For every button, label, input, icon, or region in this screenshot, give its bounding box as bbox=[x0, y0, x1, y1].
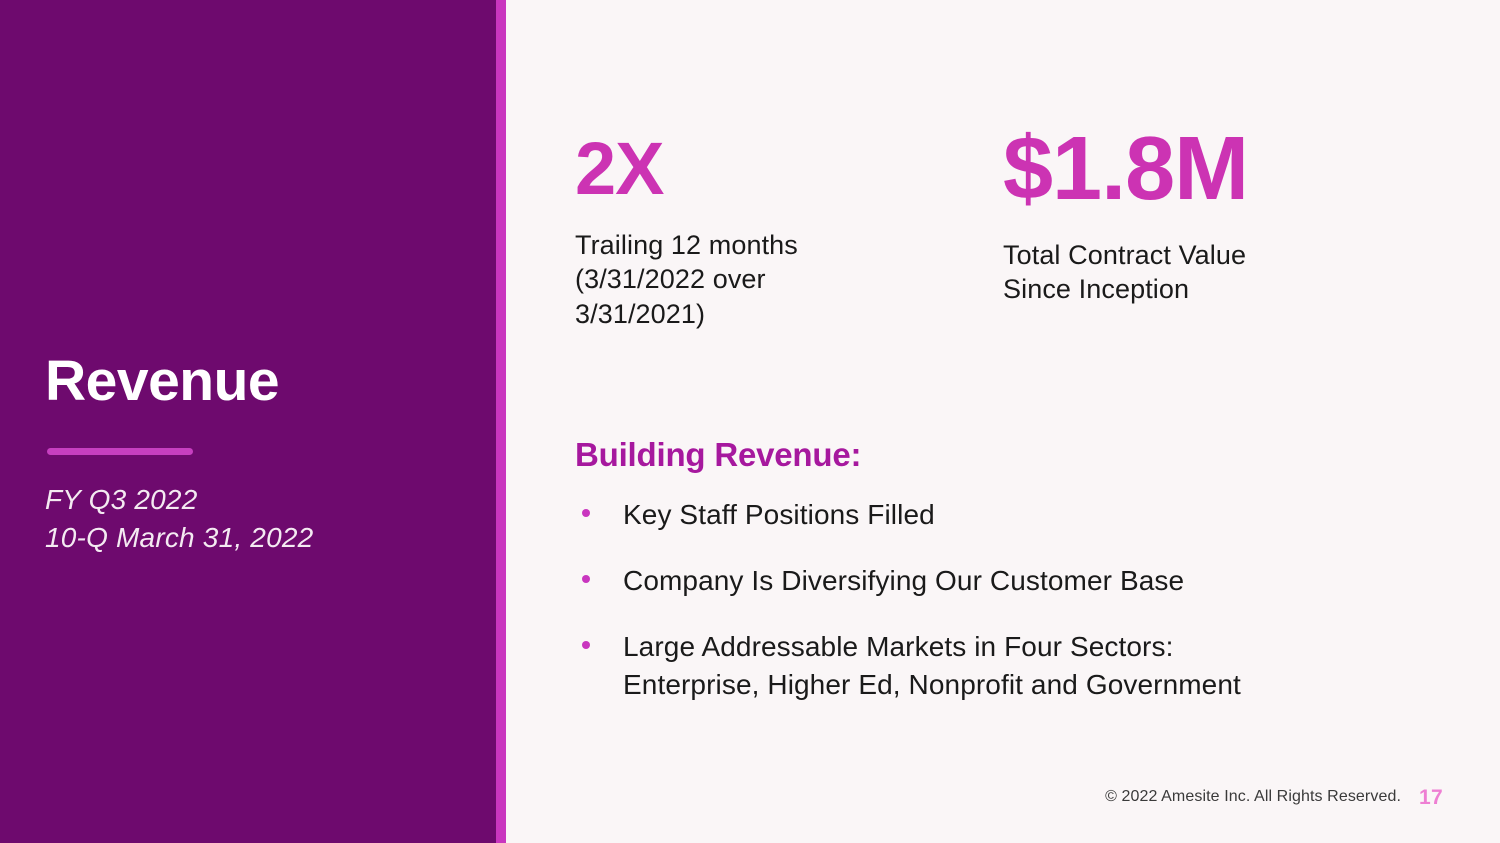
slide-title: Revenue bbox=[45, 352, 279, 412]
list-item-text: Key Staff Positions Filled bbox=[623, 496, 1475, 533]
stat-value-growth-multiple: 2X bbox=[575, 132, 955, 206]
list-item-continuation-text: Enterprise, Higher Ed, Nonprofit and Gov… bbox=[623, 669, 1241, 700]
slide-subtitle: FY Q3 2022 10-Q March 31, 2022 bbox=[45, 481, 313, 558]
stat-label-line-2: Since Inception bbox=[1003, 272, 1443, 306]
stat-label-growth-multiple: Trailing 12 months (3/31/2022 over 3/31/… bbox=[575, 228, 955, 331]
list-item: Large Addressable Markets in Four Sector… bbox=[575, 628, 1475, 702]
stat-group: 2X Trailing 12 months (3/31/2022 over 3/… bbox=[506, 0, 1500, 360]
bullet-dot-icon bbox=[582, 575, 590, 583]
copyright-text: © 2022 Amesite Inc. All Rights Reserved. bbox=[1105, 788, 1401, 806]
bullet-dot-icon bbox=[582, 509, 590, 517]
stat-label-contract-value: Total Contract Value Since Inception bbox=[1003, 238, 1443, 307]
stat-label-line-2: (3/31/2022 over bbox=[575, 262, 955, 296]
bullet-dot-icon bbox=[582, 641, 590, 649]
page-number: 17 bbox=[1419, 786, 1443, 810]
list-item: Company Is Diversifying Our Customer Bas… bbox=[575, 562, 1475, 599]
subtitle-line-filing: 10-Q March 31, 2022 bbox=[45, 519, 313, 557]
content-panel: 2X Trailing 12 months (3/31/2022 over 3/… bbox=[506, 0, 1500, 843]
building-revenue-bullet-list: Key Staff Positions Filled Company Is Di… bbox=[575, 496, 1475, 703]
stat-card-growth-multiple: 2X Trailing 12 months (3/31/2022 over 3/… bbox=[575, 132, 955, 331]
slide-footer: © 2022 Amesite Inc. All Rights Reserved.… bbox=[506, 788, 1500, 818]
list-item: Key Staff Positions Filled bbox=[575, 496, 1475, 533]
accent-stripe bbox=[496, 0, 506, 843]
list-item-text: Company Is Diversifying Our Customer Bas… bbox=[623, 562, 1475, 599]
list-item-text: Large Addressable Markets in Four Sector… bbox=[623, 628, 1475, 665]
stat-label-line-3: 3/31/2021) bbox=[575, 297, 955, 331]
section-heading: Building Revenue: bbox=[575, 436, 1475, 474]
building-revenue-section: Building Revenue: Key Staff Positions Fi… bbox=[575, 436, 1475, 703]
subtitle-line-fiscal-period: FY Q3 2022 bbox=[45, 481, 313, 519]
slide-revenue: Revenue FY Q3 2022 10-Q March 31, 2022 2… bbox=[0, 0, 1500, 843]
sidebar-panel: Revenue FY Q3 2022 10-Q March 31, 2022 bbox=[0, 0, 496, 843]
title-divider-rule bbox=[47, 448, 193, 455]
stat-value-contract-value: $1.8M bbox=[1003, 124, 1443, 214]
stat-label-line-1: Trailing 12 months bbox=[575, 228, 955, 262]
stat-label-line-1: Total Contract Value bbox=[1003, 238, 1443, 272]
stat-card-contract-value: $1.8M Total Contract Value Since Incepti… bbox=[1003, 132, 1443, 307]
